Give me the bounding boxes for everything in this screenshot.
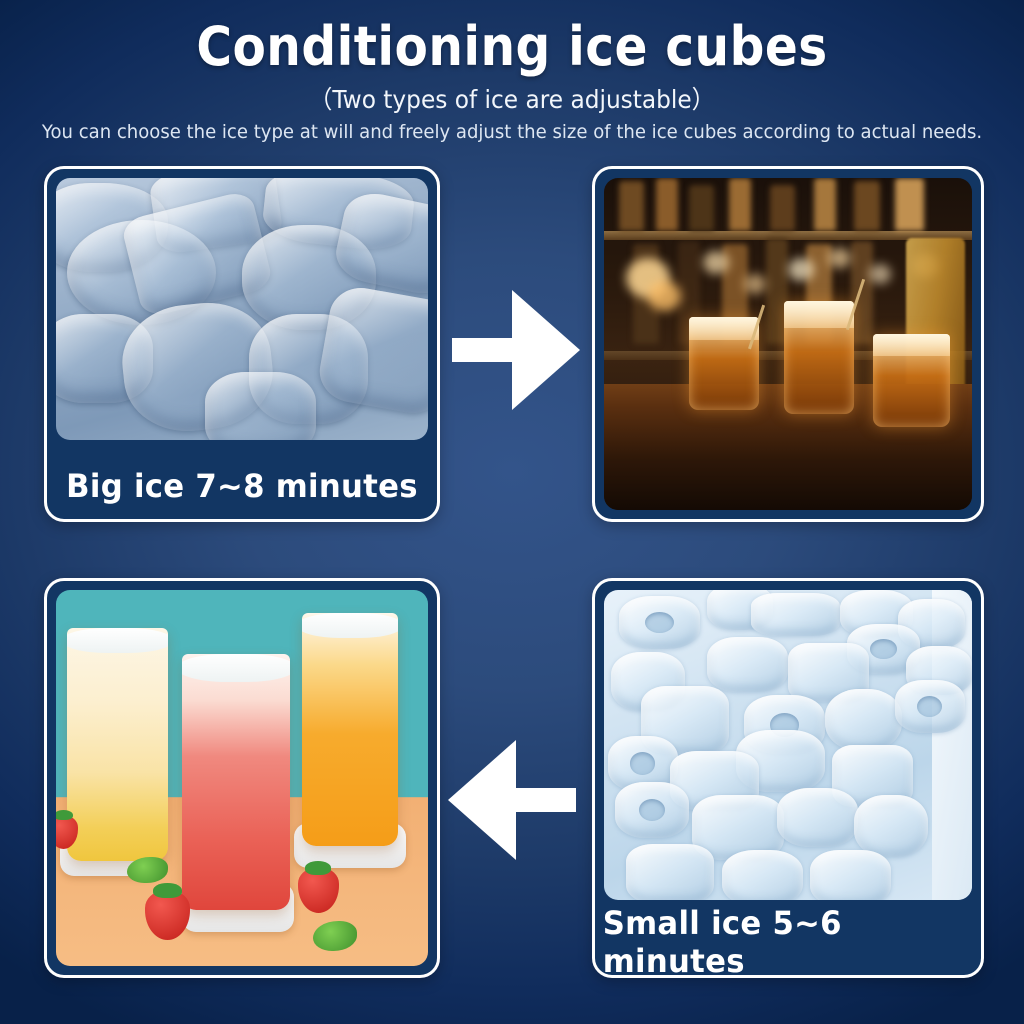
card-big-ice-caption: Big ice 7~8 minutes	[55, 453, 429, 519]
card-big-ice[interactable]: Big ice 7~8 minutes	[44, 166, 440, 522]
page-description: You can choose the ice type at will and …	[26, 114, 999, 143]
photo-bar-drinks	[604, 178, 972, 510]
arrow-right-head	[512, 290, 580, 410]
arrow-left-head	[448, 740, 516, 860]
card-small-ice-caption: Small ice 5~6 minutes	[603, 909, 974, 975]
promo-infographic: Conditioning ice cubes （Two types of ice…	[0, 0, 1024, 1024]
arrow-left-icon	[448, 738, 576, 862]
arrow-right-icon	[452, 288, 580, 412]
small-ice-illustration	[604, 590, 972, 900]
header-block: Conditioning ice cubes （Two types of ice…	[0, 0, 1024, 143]
big-ice-illustration	[56, 178, 428, 440]
smoothie-illustration	[56, 590, 428, 966]
photo-small-ice	[604, 590, 972, 900]
photo-big-ice	[56, 178, 428, 440]
card-bar-drinks[interactable]	[592, 166, 984, 522]
card-small-ice[interactable]: Small ice 5~6 minutes	[592, 578, 984, 978]
photo-smoothie-drinks	[56, 590, 428, 966]
page-title: Conditioning ice cubes	[51, 0, 973, 76]
page-subtitle: （Two types of ice are adjustable）	[36, 76, 988, 114]
card-smoothie-drinks[interactable]	[44, 578, 440, 978]
bar-illustration	[604, 178, 972, 510]
